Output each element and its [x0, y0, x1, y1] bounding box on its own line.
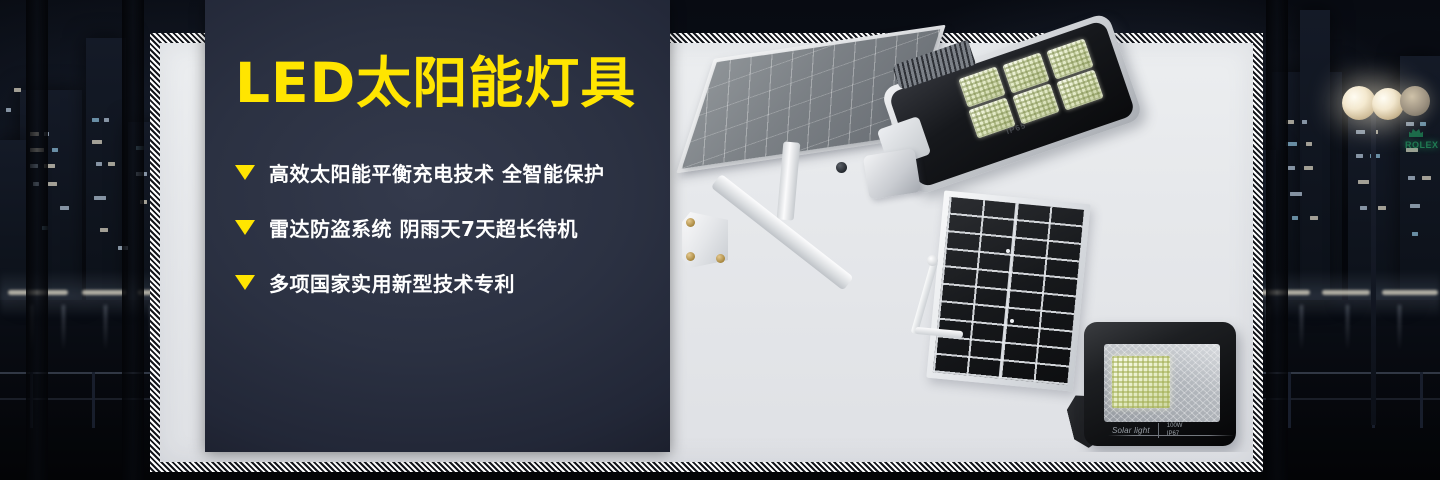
feature-label: 高效太阳能平衡充电技术 全智能保护	[269, 158, 604, 187]
stand-foot	[915, 327, 963, 338]
lamp-globe	[1372, 88, 1404, 120]
page-title: LED太阳能灯具	[235, 55, 670, 113]
triangle-down-icon	[235, 220, 255, 235]
floodlight-power: 100W	[1167, 423, 1183, 429]
headline-panel: LED太阳能灯具 高效太阳能平衡充电技术 全智能保护 雷达防盗系统 阴雨天7天超…	[205, 0, 670, 452]
building	[86, 38, 126, 300]
triangle-down-icon	[235, 275, 255, 290]
stand-hinge	[927, 255, 938, 266]
feature-item: 多项国家实用新型技术专利	[235, 268, 670, 297]
street-lamp-pole	[1371, 105, 1376, 425]
banner-stage: ROLEX IP65	[0, 0, 1440, 480]
pillar	[26, 0, 48, 480]
triangle-down-icon	[235, 165, 255, 180]
feature-item: 高效太阳能平衡充电技术 全智能保护	[235, 158, 670, 187]
floodlight-led-chip	[1112, 356, 1170, 408]
solar-panel-stand	[915, 259, 959, 337]
floodlight-ip-rating: IP67	[1167, 431, 1179, 437]
feature-item: 雷达防盗系统 阴雨天7天超长待机	[235, 213, 670, 242]
feature-list: 高效太阳能平衡充电技术 全智能保护 雷达防盗系统 阴雨天7天超长待机 多项国家实…	[235, 158, 670, 297]
stand-leg	[911, 260, 939, 335]
pillar	[122, 0, 144, 480]
headline-panel-content: LED太阳能灯具 高效太阳能平衡充电技术 全智能保护 雷达防盗系统 阴雨天7天超…	[205, 0, 670, 452]
lamp-globe	[1342, 86, 1376, 120]
radar-sensor-icon	[836, 162, 847, 173]
label-divider	[1158, 423, 1159, 438]
feature-label: 多项国家实用新型技术专利	[269, 268, 515, 297]
feature-label: 雷达防盗系统 阴雨天7天超长待机	[269, 213, 578, 242]
rolex-sign-text: ROLEX	[1405, 140, 1439, 150]
solar-flood-light-product: Solar light 100W IP67	[1068, 322, 1243, 452]
bolt-icon	[686, 252, 695, 261]
building	[1300, 10, 1330, 300]
street-light-joint	[863, 148, 921, 200]
solar-panel-junction-dot	[1010, 319, 1014, 323]
pillar	[1266, 0, 1288, 480]
floodlight-spec-text: 100W IP67	[1167, 422, 1183, 438]
lamp-globe	[1400, 86, 1430, 116]
product-image-area: IP65	[670, 0, 1264, 452]
solar-panel-junction-dot	[1006, 249, 1010, 253]
bolt-icon	[716, 254, 725, 263]
floodlight-label: Solar light 100W IP67	[1112, 422, 1232, 438]
bolt-icon	[686, 218, 695, 227]
floodlight-brand-text: Solar light	[1112, 426, 1150, 435]
